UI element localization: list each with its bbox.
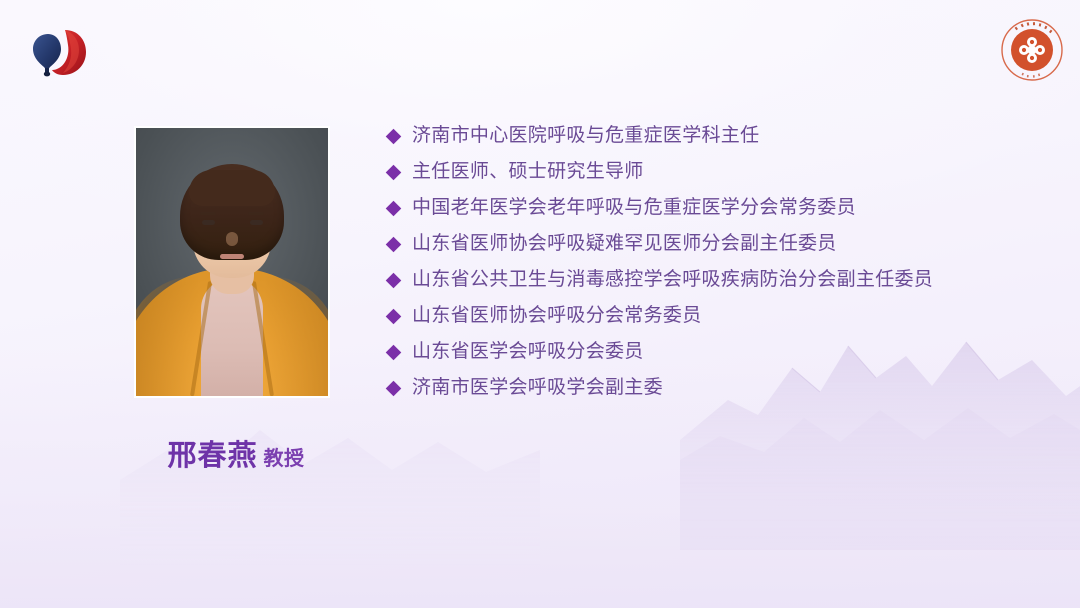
- diamond-bullet-icon: [386, 345, 402, 361]
- credential-text: 山东省医师协会呼吸疑难罕见医师分会副主任委员: [412, 234, 837, 254]
- credential-text: 中国老年医学会老年呼吸与危重症医学分会常务委员: [412, 198, 856, 218]
- speaker-name-block: 邢春燕教授: [136, 432, 336, 474]
- credential-text: 山东省医师协会呼吸分会常务委员: [412, 306, 702, 326]
- list-item: 山东省公共卫生与消毒感控学会呼吸疾病防治分会副主任委员: [388, 262, 1048, 298]
- list-item: 山东省医师协会呼吸疑难罕见医师分会副主任委员: [388, 226, 1048, 262]
- photo-eye-left: [202, 220, 215, 225]
- list-item: 济南市中心医院呼吸与危重症医学科主任: [388, 118, 1048, 154]
- diamond-bullet-icon: [386, 381, 402, 397]
- list-item: 济南市医学会呼吸学会副主委: [388, 370, 1048, 406]
- diamond-bullet-icon: [386, 273, 402, 289]
- credential-text: 济南市医学会呼吸学会副主委: [412, 378, 663, 398]
- list-item: 主任医师、硕士研究生导师: [388, 154, 1048, 190]
- photo-eyebrow-left: [200, 212, 216, 215]
- diamond-bullet-icon: [386, 309, 402, 325]
- brand-logo-icon: [18, 20, 92, 82]
- credentials-list: 济南市中心医院呼吸与危重症医学科主任 主任医师、硕士研究生导师 中国老年医学会老…: [388, 118, 1048, 406]
- diamond-bullet-icon: [386, 237, 402, 253]
- credential-text: 济南市中心医院呼吸与危重症医学科主任: [412, 126, 759, 146]
- list-item: 中国老年医学会老年呼吸与危重症医学分会常务委员: [388, 190, 1048, 226]
- photo-eye-right: [250, 220, 263, 225]
- speaker-title: 教授: [264, 448, 305, 470]
- credential-text: 主任医师、硕士研究生导师: [412, 162, 644, 182]
- hospital-seal-icon: [1000, 18, 1064, 82]
- photo-nose: [226, 232, 238, 246]
- slide-canvas: 邢春燕教授 济南市中心医院呼吸与危重症医学科主任 主任医师、硕士研究生导师 中国…: [0, 0, 1080, 608]
- diamond-bullet-icon: [386, 129, 402, 145]
- photo-hair-fringe: [189, 170, 275, 206]
- list-item: 山东省医师协会呼吸分会常务委员: [388, 298, 1048, 334]
- credential-text: 山东省医学会呼吸分会委员: [412, 342, 644, 362]
- speaker-name: 邢春燕: [167, 440, 257, 472]
- list-item: 山东省医学会呼吸分会委员: [388, 334, 1048, 370]
- photo-mouth: [220, 254, 244, 259]
- diamond-bullet-icon: [386, 201, 402, 217]
- diamond-bullet-icon: [386, 165, 402, 181]
- speaker-photo: [136, 128, 328, 396]
- credential-text: 山东省公共卫生与消毒感控学会呼吸疾病防治分会副主任委员: [412, 270, 933, 290]
- photo-eyebrow-right: [248, 212, 264, 215]
